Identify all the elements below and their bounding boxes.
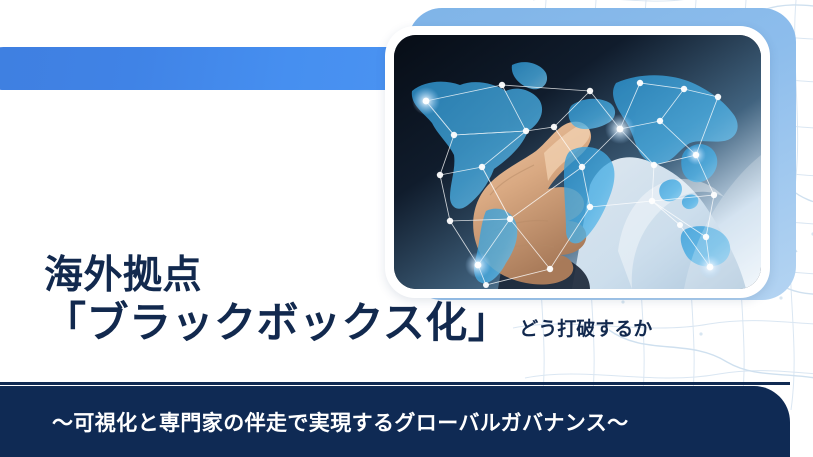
accent-bar xyxy=(0,47,417,90)
photo-image xyxy=(394,35,761,289)
headline-block: 海外拠点 「ブラックボックス化」 どう打破するか xyxy=(44,252,744,347)
global-network-touch-illustration xyxy=(394,35,761,289)
headline-line-2-row: 「ブラックボックス化」 どう打破するか xyxy=(44,299,744,347)
headline-line-2-suffix: どう打破するか xyxy=(519,318,652,340)
divider-rule xyxy=(0,382,790,385)
headline-line-1: 海外拠点 xyxy=(44,252,744,298)
subtitle-text: 〜可視化と専門家の伴走で実現するグローバルガバナンス〜 xyxy=(52,407,629,437)
headline-line-2: 「ブラックボックス化」 xyxy=(44,299,510,347)
subtitle-banner: 〜可視化と専門家の伴走で実現するグローバルガバナンス〜 xyxy=(0,386,790,457)
slide-canvas: 海外拠点 「ブラックボックス化」 どう打破するか 〜可視化と専門家の伴走で実現す… xyxy=(0,0,813,457)
